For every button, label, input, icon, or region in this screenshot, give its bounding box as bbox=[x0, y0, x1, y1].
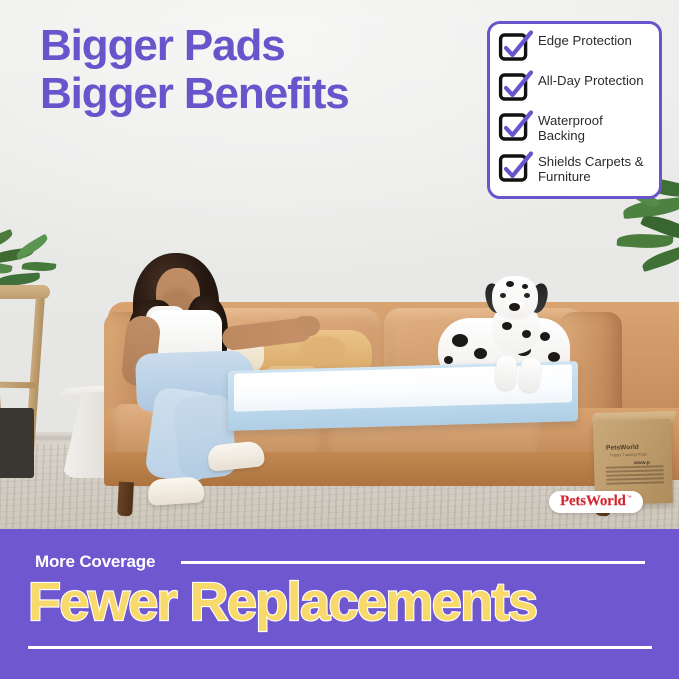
feature-label: Waterproof Backing bbox=[538, 113, 651, 143]
dalmatian-spot bbox=[522, 330, 531, 338]
dalmatian-spot bbox=[540, 332, 550, 341]
banner-rule-top bbox=[181, 561, 645, 564]
product-marketing-image: PetsWorld Puppy Training Pads www.p Pets… bbox=[0, 0, 679, 679]
trademark-symbol: ™ bbox=[627, 495, 632, 501]
dalmatian-spot bbox=[452, 334, 468, 347]
dalmatian-spot bbox=[444, 356, 453, 364]
feature-list-box: Edge Protection All-Day Protection Water… bbox=[487, 21, 662, 199]
petsworld-brand-badge: PetsWorld ™ bbox=[549, 491, 643, 513]
dalmatian-paw bbox=[495, 355, 517, 390]
checkbox-check-icon bbox=[499, 74, 528, 102]
petsworld-brand-name: PetsWorld bbox=[560, 494, 626, 509]
woman-sneaker bbox=[147, 476, 205, 506]
feature-label: Shields Carpets & Furniture bbox=[538, 154, 651, 184]
banner-headline: Fewer Replacements bbox=[28, 573, 658, 631]
banner-eyebrow-row: More Coverage bbox=[35, 552, 645, 572]
bottom-banner: More Coverage Fewer Replacements bbox=[0, 529, 679, 679]
dalmatian-eye-left bbox=[500, 293, 506, 298]
feature-label: Edge Protection bbox=[538, 33, 632, 49]
dalmatian-spot bbox=[506, 281, 514, 287]
feature-item-waterproof-backing: Waterproof Backing bbox=[499, 113, 651, 143]
product-box-tagline: Puppy Training Pads bbox=[610, 452, 647, 458]
sofa-leg bbox=[117, 482, 134, 517]
bulldog-fur-patch bbox=[300, 336, 346, 362]
product-box-bullet-lines bbox=[606, 465, 665, 487]
dalmatian-eye-right bbox=[524, 293, 530, 298]
dalmatian-spot bbox=[522, 284, 528, 289]
banner-rule-bottom bbox=[28, 646, 652, 649]
checkbox-check-icon bbox=[499, 114, 528, 142]
stool-stretcher bbox=[0, 382, 36, 389]
headline-line-1: Bigger Pads bbox=[40, 22, 349, 70]
dark-basket bbox=[0, 408, 34, 478]
checkbox-check-icon bbox=[499, 155, 528, 183]
headline-line-2: Bigger Benefits bbox=[40, 70, 349, 118]
dalmatian-spot bbox=[548, 352, 560, 362]
dalmatian-spot bbox=[474, 348, 487, 359]
headline-block: Bigger Pads Bigger Benefits bbox=[40, 22, 349, 118]
feature-label: All-Day Protection bbox=[538, 73, 644, 89]
checkbox-check-icon bbox=[499, 34, 528, 62]
dalmatian-spot bbox=[502, 322, 512, 330]
feature-item-edge-protection: Edge Protection bbox=[499, 33, 651, 62]
woman-hand bbox=[294, 316, 320, 336]
feature-item-all-day-protection: All-Day Protection bbox=[499, 73, 651, 102]
dalmatian-nose bbox=[509, 303, 520, 311]
banner-eyebrow: More Coverage bbox=[35, 552, 155, 572]
feature-item-shields-carpets-furniture: Shields Carpets & Furniture bbox=[499, 154, 651, 184]
